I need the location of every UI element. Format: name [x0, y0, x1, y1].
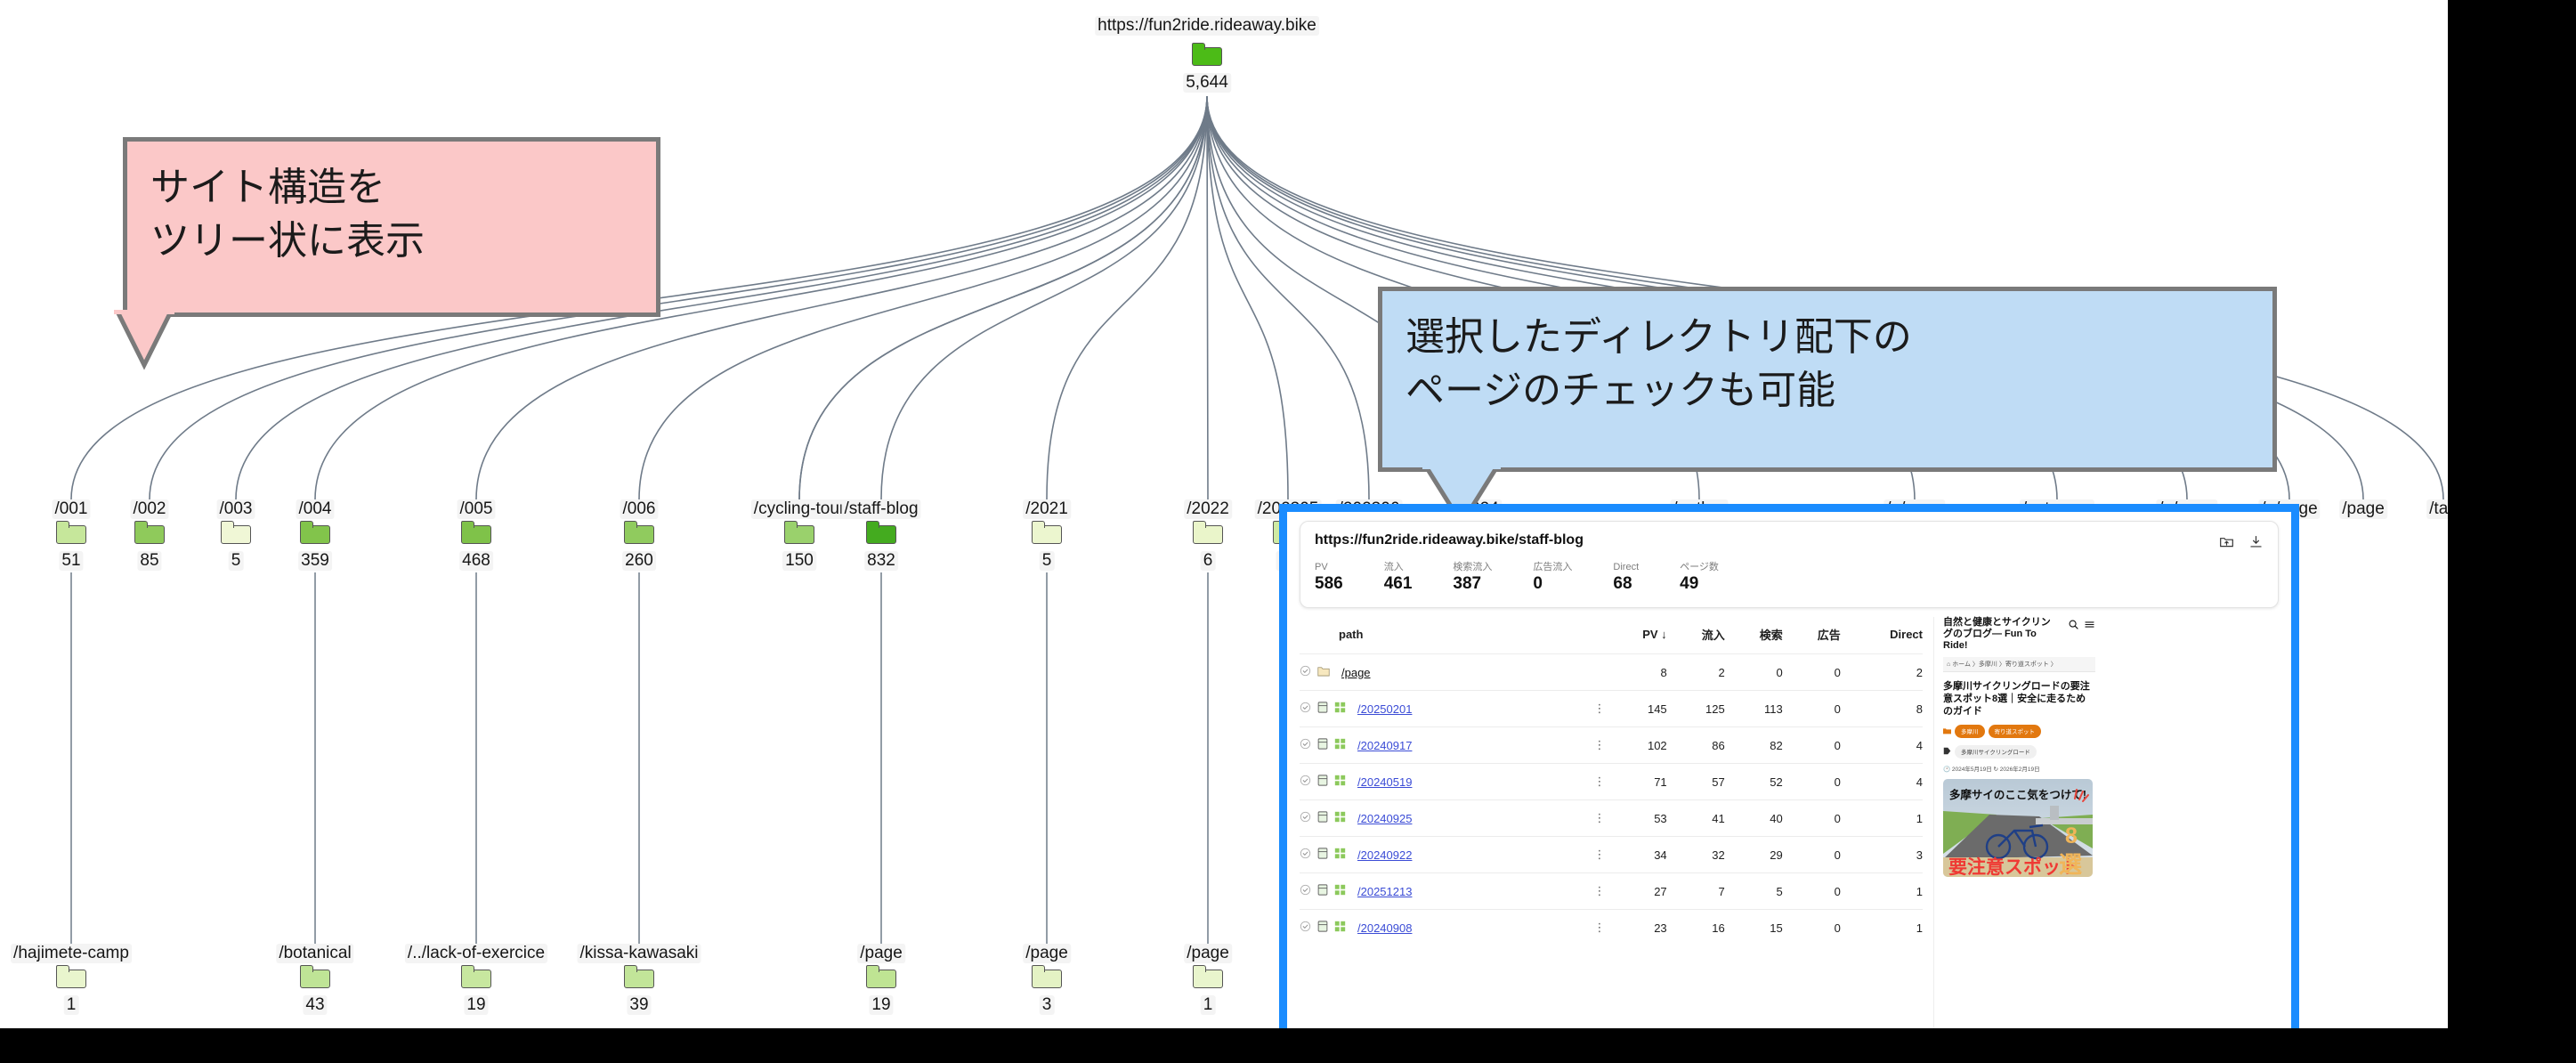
- folder-icon[interactable]: [1317, 666, 1330, 679]
- callout-tree-structure-tail: [107, 310, 231, 386]
- folder-icon[interactable]: [461, 965, 491, 988]
- row-pv: 8: [1606, 654, 1667, 691]
- tree-leaf-5-value: 3: [1040, 995, 1055, 1015]
- kpi-0-value: 586: [1315, 573, 1343, 595]
- row-direct: 1: [1841, 910, 1923, 946]
- folder-icon[interactable]: [461, 521, 491, 544]
- preview-site-title: 自然と健康とサイクリングのブログ— Fun To Ride!: [1943, 617, 2059, 652]
- page-icon[interactable]: [1317, 702, 1328, 716]
- folder-icon[interactable]: [866, 965, 896, 988]
- grid-check-icon[interactable]: [1334, 738, 1346, 752]
- page-icon[interactable]: [1317, 775, 1328, 789]
- tree-node-002-label: /002: [131, 499, 169, 519]
- row-path-cell[interactable]: /20240917⋮: [1300, 727, 1606, 764]
- tag-icon: [1943, 743, 1951, 759]
- row-pv: 23: [1606, 910, 1667, 946]
- row-menu-icon[interactable]: ⋮: [1593, 704, 1606, 713]
- summary-card: https://fun2ride.rideaway.bike/staff-blo…: [1300, 521, 2279, 608]
- tree-node-002-value: 85: [137, 551, 161, 571]
- directory-detail-panel[interactable]: https://fun2ride.rideaway.bike/staff-blo…: [1279, 504, 2299, 1028]
- page-table[interactable]: pathPV ↓流入検索広告Direct /page82002/20250201…: [1300, 617, 1923, 945]
- download-icon[interactable]: [2248, 534, 2264, 554]
- preview-article-title: 多摩川サイクリングロードの要注意スポット8選｜安全に走るためのガイド: [1943, 680, 2095, 718]
- row-inflow: 125: [1667, 691, 1725, 727]
- kpi-4: Direct68: [1613, 561, 1639, 595]
- row-path-link[interactable]: /20240908: [1357, 921, 1412, 935]
- row-ads: 0: [1783, 654, 1841, 691]
- kpi-list: PV586流入461検索流入387広告流入0Direct68ページ数49: [1315, 561, 1760, 595]
- callout-directory-check: 選択したディレクトリ配下の ページのチェックも可能: [1378, 287, 2277, 472]
- folder-icon[interactable]: [56, 521, 86, 544]
- row-path-link[interactable]: /20251213: [1357, 885, 1412, 898]
- tree-node-005-value: 468: [459, 551, 493, 571]
- folder-icon[interactable]: [300, 521, 330, 544]
- folder-icon[interactable]: [1032, 965, 1062, 988]
- folder-icon[interactable]: [624, 965, 654, 988]
- table-row[interactable]: /20240917⋮102868204: [1300, 727, 1923, 764]
- tree-node-004-label: /004: [296, 499, 335, 519]
- row-path-link[interactable]: /20250201: [1357, 702, 1412, 716]
- table-row[interactable]: /page82002: [1300, 654, 1923, 691]
- kpi-0: PV586: [1315, 561, 1343, 595]
- folder-icon[interactable]: [300, 965, 330, 988]
- thumb-number-suffix: 選: [2059, 851, 2082, 877]
- row-search: 40: [1725, 800, 1783, 837]
- check-circle-icon[interactable]: [1300, 811, 1311, 825]
- column-header-direct[interactable]: Direct: [1841, 617, 1923, 654]
- row-pv: 145: [1606, 691, 1667, 727]
- row-path-link[interactable]: /page: [1341, 666, 1371, 679]
- tree-node-001-label: /001: [53, 499, 91, 519]
- page-table-body[interactable]: /page82002/20250201⋮14512511308/20240917…: [1300, 654, 1923, 946]
- tree-node-cycling-tour-value: 150: [782, 551, 816, 571]
- folder-icon[interactable]: [1192, 43, 1222, 66]
- check-circle-icon[interactable]: [1300, 921, 1311, 935]
- row-menu-icon[interactable]: ⋮: [1593, 741, 1606, 750]
- check-circle-icon[interactable]: [1300, 848, 1311, 862]
- tree-node-001-value: 51: [59, 551, 83, 571]
- table-row[interactable]: /20251213⋮277501: [1300, 873, 1923, 910]
- preview-dates: 🕐 2024年5月19日 ↻ 2026年2月19日: [1943, 764, 2095, 773]
- tree-node-003-value: 5: [229, 551, 244, 571]
- row-pv: 102: [1606, 727, 1667, 764]
- folder-icon[interactable]: [56, 965, 86, 988]
- row-ads: 0: [1783, 764, 1841, 800]
- tree-node-staff-blog-label: /staff-blog: [841, 499, 920, 519]
- column-header--[interactable]: 検索: [1725, 617, 1783, 654]
- row-ads: 0: [1783, 727, 1841, 764]
- kpi-1: 流入461: [1384, 561, 1413, 595]
- tree-leaf-2-label: /../lack-of-exercice: [405, 944, 547, 963]
- kpi-3-label: 広告流入: [1533, 561, 1572, 573]
- row-pv: 71: [1606, 764, 1667, 800]
- row-path-cell[interactable]: /page: [1300, 654, 1606, 691]
- preview-category-1[interactable]: 寄り道スポット: [1989, 725, 2042, 738]
- tree-leaf-1-value: 43: [303, 995, 327, 1015]
- row-direct: 8: [1841, 691, 1923, 727]
- row-direct: 2: [1841, 654, 1923, 691]
- column-header-pv-[interactable]: PV ↓: [1606, 617, 1667, 654]
- check-circle-icon[interactable]: [1300, 775, 1311, 789]
- callout-directory-check-text: 選択したディレクトリ配下の ページのチェックも可能: [1382, 291, 2272, 437]
- row-direct: 4: [1841, 764, 1923, 800]
- row-menu-icon[interactable]: ⋮: [1593, 923, 1606, 932]
- row-search: 15: [1725, 910, 1783, 946]
- row-path-cell[interactable]: /20251213⋮: [1300, 873, 1606, 910]
- row-direct: 1: [1841, 873, 1923, 910]
- screenshot-root: https://fun2ride.rideaway.bike5,644/0015…: [0, 0, 2576, 1063]
- row-menu-icon[interactable]: ⋮: [1593, 887, 1606, 896]
- column-header--[interactable]: 広告: [1783, 617, 1841, 654]
- row-menu-icon[interactable]: ⋮: [1593, 814, 1606, 823]
- row-path-cell[interactable]: /20240922⋮: [1300, 837, 1606, 873]
- kpi-2-label: 検索流入: [1453, 561, 1492, 573]
- column-header--[interactable]: 流入: [1667, 617, 1725, 654]
- kpi-4-label: Direct: [1613, 561, 1639, 573]
- row-direct: 4: [1841, 727, 1923, 764]
- tree-node-003-label: /003: [217, 499, 255, 519]
- site-tree-canvas: https://fun2ride.rideaway.bike5,644/0015…: [0, 0, 2448, 1028]
- row-menu-icon[interactable]: ⋮: [1593, 850, 1606, 859]
- kpi-5-label: ページ数: [1680, 561, 1719, 573]
- row-inflow: 86: [1667, 727, 1725, 764]
- preview-categories: 多摩川寄り道スポット: [1943, 723, 2095, 739]
- clock-icon: 🕐: [1943, 767, 1952, 773]
- page-icon[interactable]: [1317, 884, 1328, 898]
- grid-check-icon[interactable]: [1334, 884, 1346, 898]
- kpi-1-label: 流入: [1384, 561, 1413, 573]
- tree-node-2022-label: /2022: [1184, 499, 1232, 519]
- tree-leaf-0-label: /hajimete-camp: [11, 944, 132, 963]
- grid-check-icon[interactable]: [1334, 775, 1346, 789]
- tree-leaf-6-label: /page: [1184, 944, 1232, 963]
- kpi-0-label: PV: [1315, 561, 1343, 573]
- grid-check-icon[interactable]: [1334, 811, 1346, 825]
- row-path-link[interactable]: /20240922: [1357, 848, 1412, 862]
- table-row[interactable]: /20240925⋮53414001: [1300, 800, 1923, 837]
- kpi-3: 広告流入0: [1533, 561, 1572, 595]
- kpi-5: ページ数49: [1680, 561, 1719, 595]
- thumb-number: 8: [2065, 824, 2078, 848]
- preview-thumbnail: 多摩サイのここ気をつけて! 要注意スポット 8 選: [1943, 779, 2093, 877]
- tree-leaf-6-value: 1: [1201, 995, 1216, 1015]
- tree-node-2022-value: 6: [1201, 551, 1216, 571]
- check-circle-icon[interactable]: [1300, 665, 1311, 679]
- tree-leaf-1-label: /botanical: [276, 944, 353, 963]
- grid-check-icon[interactable]: [1334, 702, 1346, 716]
- row-search: 82: [1725, 727, 1783, 764]
- preview-category-0[interactable]: 多摩川: [1955, 725, 1985, 738]
- tree-node-004-value: 359: [298, 551, 332, 571]
- kpi-5-value: 49: [1680, 573, 1719, 595]
- folder-icon[interactable]: [866, 521, 896, 544]
- panel-url: https://fun2ride.rideaway.bike/staff-blo…: [1315, 532, 1584, 548]
- folder-icon[interactable]: [784, 521, 814, 544]
- row-menu-icon[interactable]: ⋮: [1593, 777, 1606, 786]
- page-icon[interactable]: [1317, 921, 1328, 935]
- row-pv: 34: [1606, 837, 1667, 873]
- tree-node-page-label: /page: [2339, 499, 2387, 519]
- row-inflow: 7: [1667, 873, 1725, 910]
- row-direct: 1: [1841, 800, 1923, 837]
- row-ads: 0: [1783, 691, 1841, 727]
- preview-header: 自然と健康とサイクリングのブログ— Fun To Ride!: [1943, 617, 2095, 652]
- row-search: 113: [1725, 691, 1783, 727]
- page-preview-card: 自然と健康とサイクリングのブログ— Fun To Ride!: [1933, 617, 2095, 1028]
- row-path-cell[interactable]: /20240908⋮: [1300, 910, 1606, 946]
- row-path-link[interactable]: /20240925: [1357, 812, 1412, 825]
- row-path-cell[interactable]: /20240519⋮: [1300, 764, 1606, 800]
- preview-breadcrumb-text: ホーム 〉多摩川 〉寄り道スポット 〉: [1952, 661, 2057, 668]
- row-ads: 0: [1783, 837, 1841, 873]
- row-ads: 0: [1783, 873, 1841, 910]
- hamburger-menu-icon[interactable]: [2084, 619, 2095, 635]
- table-row[interactable]: /20240922⋮34322903: [1300, 837, 1923, 873]
- row-direct: 3: [1841, 837, 1923, 873]
- row-inflow: 2: [1667, 654, 1725, 691]
- page-icon[interactable]: [1317, 848, 1328, 862]
- row-inflow: 57: [1667, 764, 1725, 800]
- check-circle-icon[interactable]: [1300, 738, 1311, 752]
- preview-tags: 多摩川サイクリングロード: [1943, 743, 2095, 759]
- folder-icon[interactable]: [1193, 521, 1223, 544]
- tree-root-value: 5,644: [1183, 73, 1231, 93]
- table-row[interactable]: /20240519⋮71575204: [1300, 764, 1923, 800]
- row-search: 52: [1725, 764, 1783, 800]
- table-row[interactable]: /20240908⋮23161501: [1300, 910, 1923, 946]
- row-path-link[interactable]: /20240917: [1357, 739, 1412, 752]
- tree-leaf-4-value: 19: [869, 995, 893, 1015]
- tree-node-staff-blog-value: 832: [864, 551, 898, 571]
- row-search: 29: [1725, 837, 1783, 873]
- folder-upload-icon[interactable]: [2219, 534, 2234, 554]
- row-path-link[interactable]: /20240519: [1357, 775, 1412, 789]
- column-header-path[interactable]: path: [1300, 617, 1606, 654]
- row-pv: 27: [1606, 873, 1667, 910]
- tree-node-006-value: 260: [622, 551, 656, 571]
- tree-root-label: https://fun2ride.rideaway.bike: [1095, 16, 1319, 36]
- folder-icon[interactable]: [624, 521, 654, 544]
- preview-published-date: 2024年5月19日: [1952, 767, 1992, 773]
- row-inflow: 41: [1667, 800, 1725, 837]
- tree-node-tag-label: /tag: [2426, 499, 2448, 519]
- callout-tree-structure: サイト構造を ツリー状に表示: [123, 137, 660, 317]
- table-row[interactable]: /20250201⋮14512511308: [1300, 691, 1923, 727]
- row-search: 5: [1725, 873, 1783, 910]
- thumb-top-text: 多摩サイのここ気をつけて!: [1949, 788, 2086, 801]
- tree-leaf-3-label: /kissa-kawasaki: [577, 944, 701, 963]
- check-circle-icon[interactable]: [1300, 702, 1311, 716]
- callout-tree-structure-text: サイト構造を ツリー状に表示: [127, 142, 656, 288]
- panel-header-icons: [2219, 534, 2264, 554]
- tree-leaf-2-value: 19: [464, 995, 488, 1015]
- row-inflow: 16: [1667, 910, 1725, 946]
- tree-leaf-5-label: /page: [1023, 944, 1071, 963]
- preview-breadcrumb: ⌂ ホーム 〉多摩川 〉寄り道スポット 〉: [1943, 657, 2095, 672]
- kpi-2: 検索流入387: [1453, 561, 1492, 595]
- tree-node-2021-value: 5: [1040, 551, 1055, 571]
- preview-updated-date: 2026年2月19日: [2000, 767, 2040, 773]
- page-icon[interactable]: [1317, 811, 1328, 825]
- row-search: 0: [1725, 654, 1783, 691]
- page-table-header-row: pathPV ↓流入検索広告Direct: [1300, 617, 1923, 654]
- row-pv: 53: [1606, 800, 1667, 837]
- category-folder-icon: [1943, 723, 1951, 739]
- row-ads: 0: [1783, 800, 1841, 837]
- tree-leaf-4-label: /page: [857, 944, 905, 963]
- row-ads: 0: [1783, 910, 1841, 946]
- folder-icon[interactable]: [1193, 965, 1223, 988]
- search-icon[interactable]: [2068, 619, 2079, 635]
- tree-leaf-3-value: 39: [627, 995, 651, 1015]
- folder-icon[interactable]: [1032, 521, 1062, 544]
- folder-icon[interactable]: [221, 521, 251, 544]
- folder-icon[interactable]: [134, 521, 165, 544]
- kpi-1-value: 461: [1384, 573, 1413, 595]
- row-inflow: 32: [1667, 837, 1725, 873]
- kpi-4-value: 68: [1613, 573, 1639, 595]
- tree-node-cycling-tour-label: /cycling-tour: [751, 499, 847, 519]
- kpi-3-value: 0: [1533, 573, 1572, 595]
- kpi-2-value: 387: [1453, 573, 1492, 595]
- tree-node-2021-label: /2021: [1023, 499, 1071, 519]
- tree-node-005-label: /005: [458, 499, 496, 519]
- tree-node-006-label: /006: [620, 499, 659, 519]
- grid-check-icon[interactable]: [1334, 848, 1346, 862]
- row-path-cell[interactable]: /20250201⋮: [1300, 691, 1606, 727]
- page-table-head: pathPV ↓流入検索広告Direct: [1300, 617, 1923, 654]
- row-path-cell[interactable]: /20240925⋮: [1300, 800, 1606, 837]
- refresh-icon: ↻: [1994, 767, 2000, 773]
- grid-check-icon[interactable]: [1334, 921, 1346, 935]
- check-circle-icon[interactable]: [1300, 884, 1311, 898]
- preview-tag-0[interactable]: 多摩川サイクリングロード: [1955, 745, 2037, 759]
- page-icon[interactable]: [1317, 738, 1328, 752]
- tree-leaf-0-value: 1: [64, 995, 79, 1015]
